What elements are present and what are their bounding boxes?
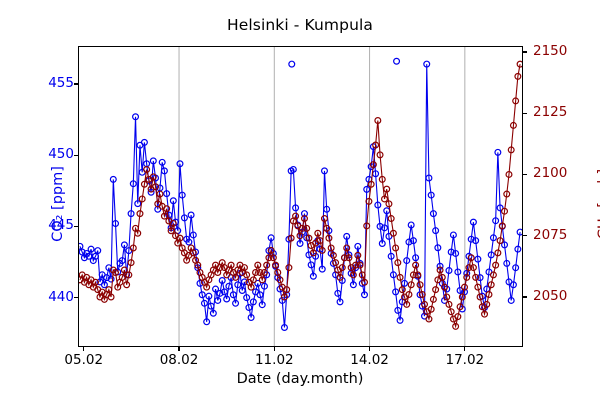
y-tick-label-left: 445 <box>48 217 74 233</box>
x-tick-label: 08.02 <box>160 352 199 368</box>
y-tick-mark-right <box>523 51 527 52</box>
y-tick-mark-left <box>74 155 78 156</box>
x-tick-mark <box>464 347 465 351</box>
x-tick-mark <box>178 347 179 351</box>
y-axis-right-label: CH₄ [ppb] <box>596 84 600 324</box>
y-tick-mark-left <box>74 226 78 227</box>
y-tick-label-left: 455 <box>48 75 74 91</box>
x-tick-label: 14.02 <box>350 352 389 368</box>
x-tick-mark <box>83 347 84 351</box>
series-markers-ch4 <box>79 61 522 329</box>
y-tick-label-right: 2150 <box>533 43 567 59</box>
y-tick-label-left: 440 <box>48 289 74 305</box>
y-tick-mark-left <box>74 83 78 84</box>
x-tick-label: 05.02 <box>64 352 103 368</box>
figure-canvas: Helsinki - Kumpula CO₂ [ppm] CH₄ [ppb] D… <box>0 0 600 400</box>
y-tick-label-right: 2075 <box>533 227 567 243</box>
series-line-ch4 <box>80 64 520 326</box>
x-tick-label: 11.02 <box>255 352 294 368</box>
x-axis-label: Date (day.month) <box>0 371 600 387</box>
outlier-marker <box>394 58 400 64</box>
x-tick-label: 17.02 <box>446 352 485 368</box>
y-tick-mark-left <box>74 297 78 298</box>
y-tick-mark-right <box>523 113 527 114</box>
y-tick-label-right: 2100 <box>533 165 567 181</box>
y-tick-label-left: 450 <box>48 146 74 162</box>
chart-svg <box>79 47 522 346</box>
series-markers-co2 <box>79 61 522 330</box>
y-tick-label-right: 2125 <box>533 104 567 120</box>
y-tick-mark-right <box>523 296 527 297</box>
plot-area <box>78 46 523 347</box>
y-tick-label-right: 2050 <box>533 288 567 304</box>
y-tick-mark-right <box>523 235 527 236</box>
outlier-marker <box>289 61 295 67</box>
y-tick-mark-right <box>523 174 527 175</box>
x-tick-mark <box>274 347 275 351</box>
series-line-co2 <box>80 64 520 327</box>
x-tick-mark <box>369 347 370 351</box>
page-title: Helsinki - Kumpula <box>0 16 600 34</box>
